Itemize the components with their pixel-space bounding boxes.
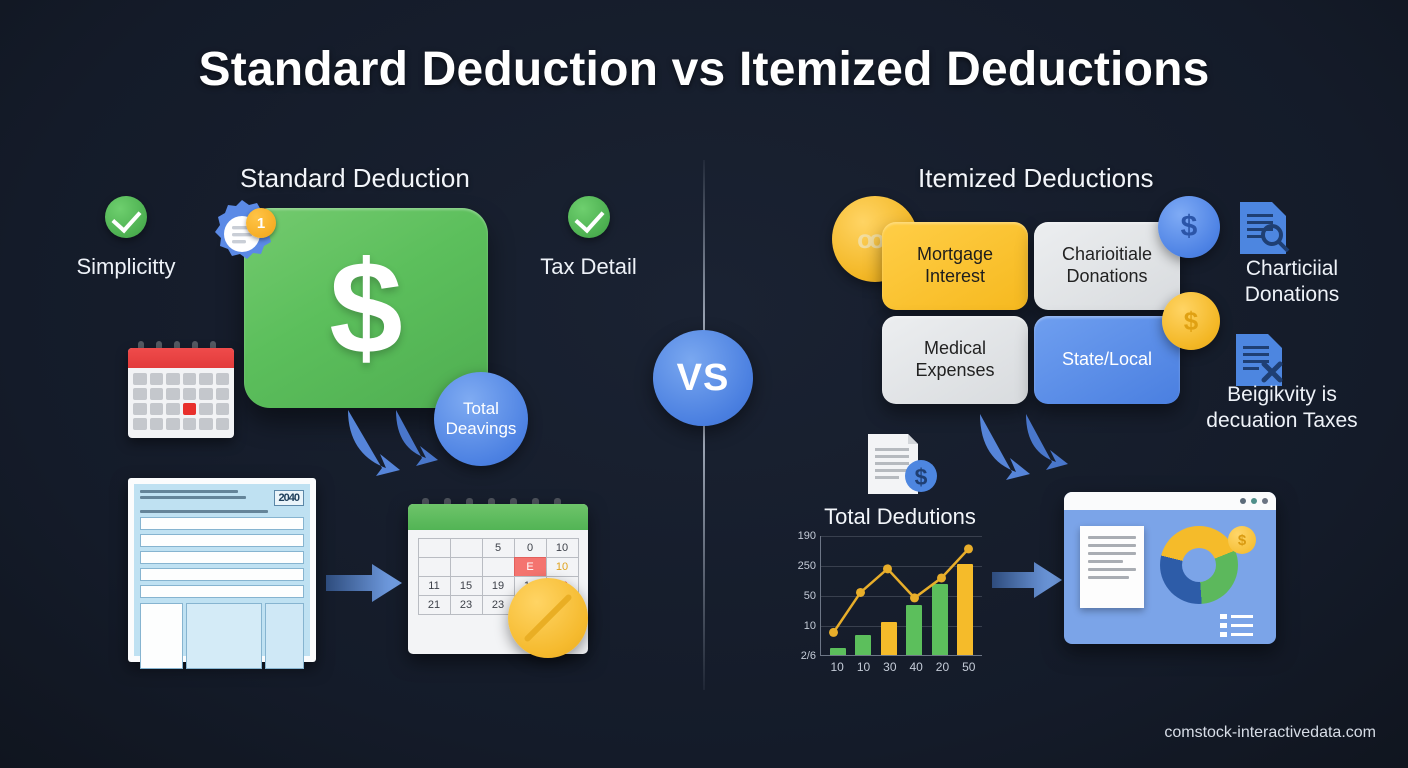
feature-tax-detail: Tax Detail [506, 196, 671, 280]
calendar-day-cell[interactable]: 5 [482, 538, 515, 558]
document-reject-icon [1232, 332, 1286, 388]
calendar-day-cell[interactable]: 0 [514, 538, 547, 558]
chart-trend-line [820, 536, 982, 656]
form-table-column [140, 603, 183, 669]
calendar-day-cell[interactable]: 21 [418, 595, 451, 615]
standard-deduction-money-card: $ [244, 208, 488, 408]
form-title-placeholder [140, 490, 246, 502]
form-year-box: 2040 [274, 490, 304, 506]
tax-form-card: 2040 [128, 478, 316, 662]
form-table [140, 603, 304, 669]
page-title: Standard Deduction vs Itemized Deduction… [0, 42, 1408, 97]
window-dot-icon[interactable] [1262, 498, 1268, 504]
window-dot-icon[interactable] [1240, 498, 1246, 504]
calendar-day-cell[interactable]: 11 [418, 576, 451, 596]
gear-notification-badge: 1 [246, 208, 276, 238]
card-mortgage-interest[interactable]: Mortgage Interest [882, 222, 1028, 310]
arrow-right-icon [326, 562, 402, 604]
chart-x-axis: 101030402050 [824, 660, 982, 674]
window-dot-icon[interactable] [1251, 498, 1257, 504]
chart-x-tick-label: 30 [883, 660, 896, 674]
total-deductions-chart: 19025050102/6 101030402050 [786, 536, 982, 684]
curved-arrow-right-pair [962, 412, 1092, 484]
feature-tax-detail-label: Tax Detail [506, 254, 671, 280]
chart-y-tick-label: 50 [804, 590, 816, 602]
chart-y-axis: 19025050102/6 [786, 536, 818, 656]
standard-deduction-heading: Standard Deduction [240, 163, 470, 194]
coin-deadline-icon [508, 578, 588, 658]
calendar-day-cell[interactable] [418, 557, 451, 577]
calendar-green-icon: 5010E10111519102921232321 [408, 504, 588, 654]
calendar-day-cell[interactable] [482, 557, 515, 577]
calendar-day-cell[interactable]: 10 [546, 538, 579, 558]
calendar-day-cell[interactable] [418, 538, 451, 558]
watermark: comstock-interactivedata.com [1164, 724, 1376, 742]
form-field-row[interactable] [140, 585, 304, 598]
dollar-badge-blue-icon: $ [1158, 196, 1220, 258]
chart-title: Total Dedutions [800, 504, 1000, 530]
chart-x-tick-label: 20 [936, 660, 949, 674]
document-search-icon [1236, 200, 1290, 256]
dollar-sign-icon: $ [329, 242, 402, 374]
chart-x-tick-label: 10 [857, 660, 870, 674]
check-circle-icon [568, 196, 610, 238]
label-charitable-donations: Charticiial Donations [1204, 256, 1380, 308]
chart-x-tick-label: 40 [909, 660, 922, 674]
check-circle-icon [105, 196, 147, 238]
form-field-row[interactable] [140, 517, 304, 530]
infographic-canvas: Standard Deduction vs Itemized Deduction… [0, 0, 1408, 768]
label-eligibility-taxes: Beigikvity is decuation Taxes [1182, 382, 1382, 434]
calendar-day-cell[interactable]: 23 [450, 595, 483, 615]
vs-badge: VS [653, 330, 753, 426]
chart-y-tick-label: 10 [804, 620, 816, 632]
svg-text:$: $ [915, 464, 928, 490]
center-divider-top [703, 160, 705, 342]
form-field-row[interactable] [140, 534, 304, 547]
calendar-red-icon [128, 348, 234, 438]
chart-x-tick-label: 50 [962, 660, 975, 674]
calendar-day-cell[interactable]: 15 [450, 576, 483, 596]
curved-arrow-left-pair [330, 408, 470, 478]
center-divider-bottom [703, 420, 705, 690]
donut-chart-icon [1160, 526, 1238, 604]
chart-y-tick-label: 2/6 [801, 650, 816, 662]
form-field-row[interactable] [140, 568, 304, 581]
calendar-day-cell[interactable] [450, 538, 483, 558]
browser-window-mockup[interactable]: $ [1064, 492, 1276, 644]
calendar-day-cell[interactable]: E [514, 557, 547, 577]
chart-x-tick-label: 10 [830, 660, 843, 674]
coin-icon: $ [1228, 526, 1256, 554]
card-medical-expenses[interactable]: Medical Expenses [882, 316, 1028, 404]
report-document-icon [1080, 526, 1144, 608]
feature-simplicity: Simplicitty [46, 196, 206, 280]
browser-title-bar [1064, 492, 1276, 510]
list-icon [1220, 614, 1253, 641]
itemized-deductions-heading: Itemized Deductions [918, 163, 1154, 194]
form-field-row[interactable] [140, 551, 304, 564]
calendar-day-cell[interactable]: 10 [546, 557, 579, 577]
chart-y-tick-label: 250 [798, 560, 816, 572]
feature-simplicity-label: Simplicitty [46, 254, 206, 280]
chart-y-tick-label: 190 [798, 530, 816, 542]
form-table-column [186, 603, 262, 669]
arrow-right-icon [992, 560, 1062, 600]
calendar-day-cell[interactable] [450, 557, 483, 577]
form-table-column [265, 603, 304, 669]
card-state-local[interactable]: State/Local [1034, 316, 1180, 404]
document-dollar-icon: $ [858, 432, 942, 496]
browser-content: $ [1064, 510, 1276, 644]
calendar-day-cell[interactable]: 19 [482, 576, 515, 596]
card-charitable-donations[interactable]: Charioitiale Donations [1034, 222, 1180, 310]
